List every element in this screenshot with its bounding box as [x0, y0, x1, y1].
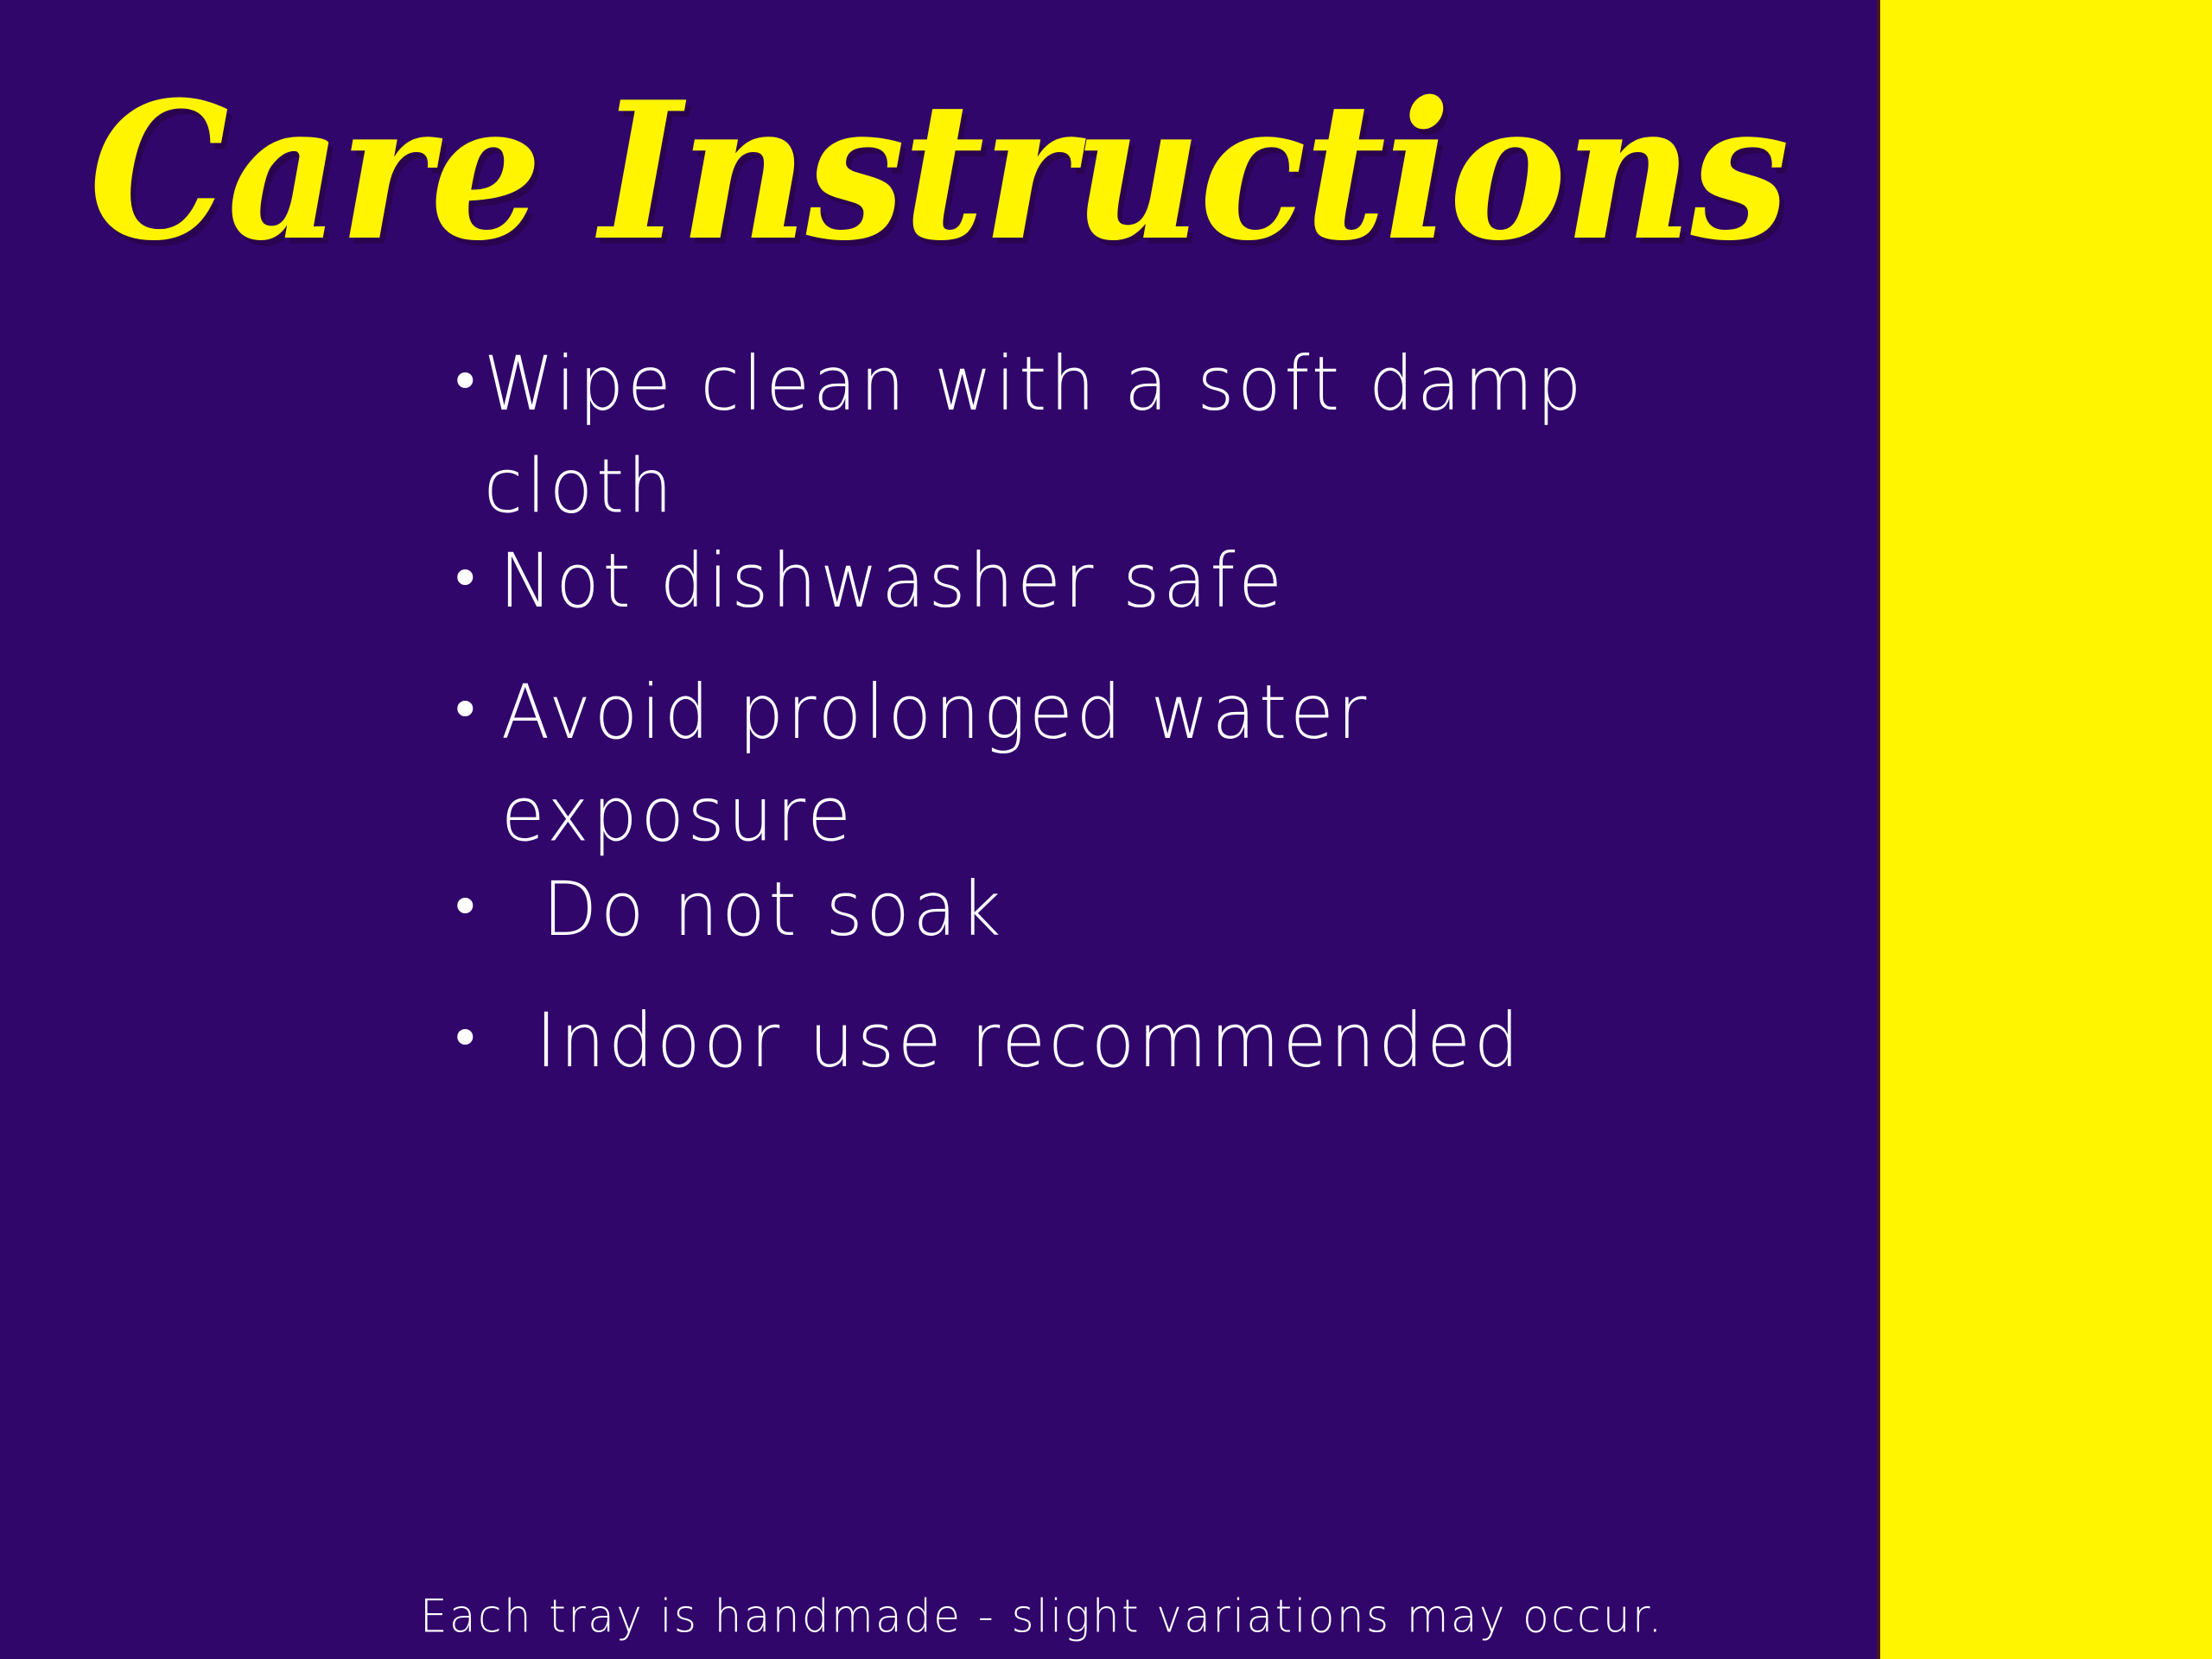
list-item-label: Avoid prolonged water exposure [501, 662, 1521, 867]
list-item: • Not dishwasher safe [449, 531, 1286, 627]
page-title: Care Instructions [0, 76, 1933, 269]
bullet-marker-icon: • [449, 990, 479, 1087]
care-instructions-slide: Care Instructions • Wipe clean with a so… [0, 0, 2212, 1659]
list-item: • Do not soak [449, 859, 1004, 956]
bullet-marker-icon: • [449, 334, 479, 430]
list-item-label: Do not soak [543, 859, 1004, 962]
bullet-marker-icon: • [449, 531, 479, 627]
list-item-label: Not dishwasher safe [499, 531, 1286, 633]
list-item: • Avoid prolonged water exposure [449, 662, 1521, 855]
list-item-label: Wipe clean with a soft damp cloth [484, 334, 1719, 538]
handmade-disclaimer: Each tray is handmade - slight variation… [420, 1588, 1664, 1644]
bullet-marker-icon: • [449, 859, 479, 956]
list-item-label: Indoor use recommended [536, 990, 1522, 1093]
list-item: • Wipe clean with a soft damp cloth [449, 334, 1719, 527]
bullet-marker-icon: • [449, 662, 479, 759]
care-instructions-list: • Wipe clean with a soft damp cloth • No… [0, 334, 1877, 1526]
list-item: • Indoor use recommended [449, 990, 1522, 1087]
